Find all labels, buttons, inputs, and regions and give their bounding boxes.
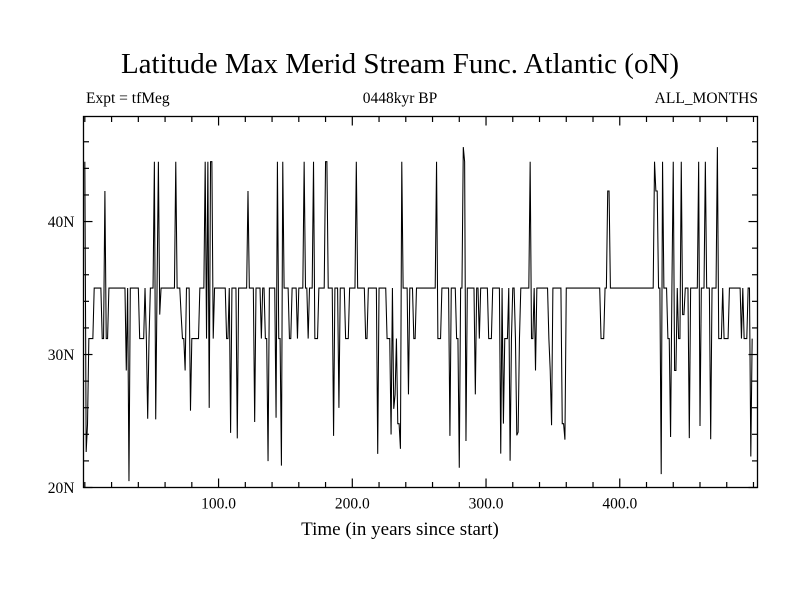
x-tick-label: 200.0 [335,496,370,513]
data-series-line [85,147,752,481]
x-axis-title: Time (in years since start) [0,519,800,541]
y-tick-label: 20N [48,480,75,497]
plot-frame [84,117,758,488]
axis-ticks [84,117,758,488]
axis-tick-labels: 100.0200.0300.0400.020N30N40N [48,214,638,512]
y-tick-label: 30N [48,347,75,364]
x-tick-label: 400.0 [602,496,637,513]
x-tick-label: 300.0 [469,496,504,513]
figure-root: Latitude Max Merid Stream Func. Atlantic… [0,0,800,600]
x-tick-label: 100.0 [201,496,236,513]
y-tick-label: 40N [48,214,75,231]
plot-area: 100.0200.0300.0400.020N30N40N [0,0,800,600]
